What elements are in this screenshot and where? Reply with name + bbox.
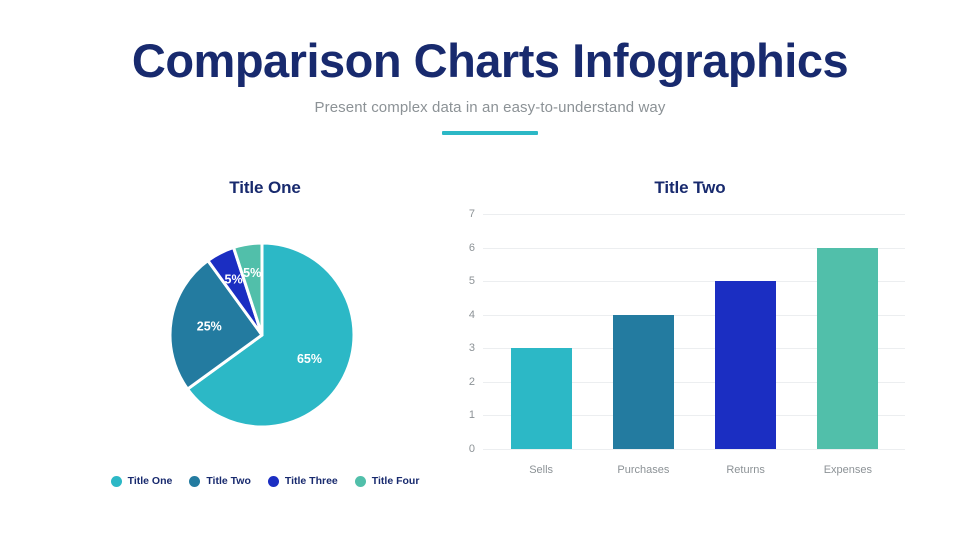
- bar-chart-title: Title Two: [455, 178, 925, 198]
- pie-chart-legend: Title OneTitle TwoTitle ThreeTitle Four: [60, 475, 470, 487]
- pie-slice-value-label: 25%: [197, 320, 222, 334]
- gridline: [483, 449, 905, 450]
- bar-column: [601, 214, 685, 449]
- pie-slice-value-label: 5%: [225, 272, 243, 286]
- page-title: Comparison Charts Infographics: [0, 36, 980, 85]
- bar[interactable]: [613, 315, 674, 449]
- accent-divider: [442, 131, 538, 135]
- y-axis-tick-label: 0: [455, 443, 475, 455]
- legend-item-label: Title Two: [206, 475, 251, 487]
- header: Comparison Charts Infographics Present c…: [0, 36, 980, 135]
- y-axis-tick-label: 2: [455, 376, 475, 388]
- pie-slice-group: [170, 243, 354, 427]
- bar[interactable]: [715, 281, 776, 449]
- legend-item[interactable]: Title Two: [189, 475, 251, 487]
- pie-chart-panel: Title One 65%25%5%5%: [60, 178, 470, 460]
- legend-item[interactable]: Title One: [111, 475, 173, 487]
- legend-color-swatch-icon: [111, 476, 122, 487]
- x-axis-category-label: Purchases: [617, 464, 669, 476]
- y-axis-tick-label: 7: [455, 208, 475, 220]
- legend-item-label: Title Three: [285, 475, 338, 487]
- y-axis-tick-label: 4: [455, 309, 475, 321]
- bar[interactable]: [511, 348, 572, 449]
- bar[interactable]: [817, 248, 878, 449]
- bar-column: [499, 214, 583, 449]
- bar-column: [704, 214, 788, 449]
- legend-item-label: Title One: [128, 475, 173, 487]
- pie-chart-title: Title One: [60, 178, 470, 198]
- pie-slice-value-label: 5%: [243, 266, 261, 280]
- y-axis-tick-label: 3: [455, 342, 475, 354]
- x-axis-category-label: Expenses: [824, 464, 872, 476]
- bar-chart-figure: 76543210 SellsPurchasesReturnsExpenses: [455, 214, 905, 484]
- legend-item[interactable]: Title Three: [268, 475, 338, 487]
- legend-color-swatch-icon: [189, 476, 200, 487]
- bar-chart-panel: Title Two 76543210 SellsPurchasesReturns…: [455, 178, 925, 484]
- bar-column: [806, 214, 890, 449]
- pie-slice-value-label: 65%: [297, 352, 322, 366]
- y-axis-tick-label: 5: [455, 275, 475, 287]
- y-axis-tick-label: 1: [455, 409, 475, 421]
- page-subtitle: Present complex data in an easy-to-under…: [0, 99, 980, 116]
- pie-chart-svg: 65%25%5%5%: [60, 210, 470, 460]
- slide-canvas: Comparison Charts Infographics Present c…: [0, 0, 980, 551]
- x-axis-category-label: Sells: [529, 464, 553, 476]
- legend-color-swatch-icon: [268, 476, 279, 487]
- bar-chart-bars: [490, 214, 899, 449]
- legend-item-label: Title Four: [372, 475, 420, 487]
- x-axis-category-label: Returns: [726, 464, 765, 476]
- legend-color-swatch-icon: [355, 476, 366, 487]
- y-axis-tick-label: 6: [455, 242, 475, 254]
- pie-chart-figure: 65%25%5%5%: [60, 210, 470, 460]
- legend-item[interactable]: Title Four: [355, 475, 420, 487]
